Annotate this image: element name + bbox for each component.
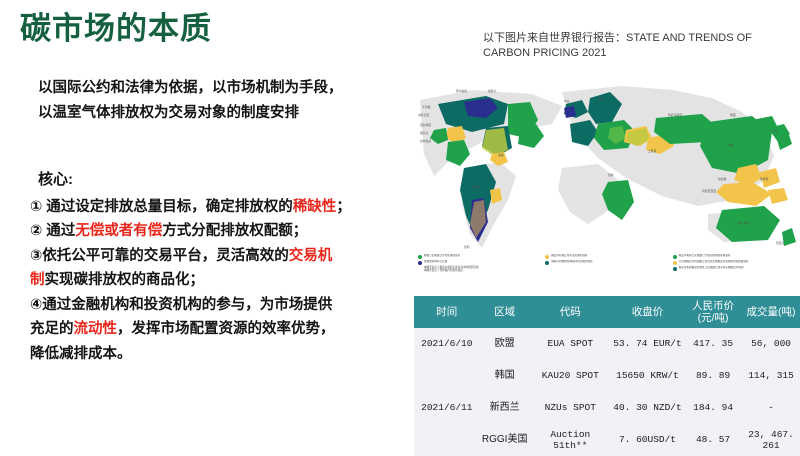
legend-item: 碳税与排放交易体系同时实施的辖区 [545,260,666,265]
legend-swatch-icon [673,261,677,265]
svg-text:印度尼西亚: 印度尼西亚 [702,189,716,193]
svg-text:加拿大: 加拿大 [488,89,497,93]
cell-close-price: 15650 KRW/t [611,360,684,392]
point-text: 实现碳排放权的商品化； [45,272,205,288]
highlighted-term: 交易机 [289,248,333,264]
svg-text:哥伦比亚: 哥伦比亚 [418,113,429,117]
intro-line-2: 以温室气体排放权为交易对象的制度安排 [38,101,408,126]
point-text: 方式分配排放权配额； [162,223,307,239]
svg-text:土耳其: 土耳其 [648,149,657,153]
cell-close-price: 40. 30 NZD/t [611,392,684,424]
table-row: 韩国KAU20 SPOT15650 KRW/t89. 89114, 315 [414,360,800,392]
legend-item: 碳定价机制覆盖的辖区已实施或正在考虑实施碳定价机制 [673,266,794,271]
svg-text:挪威: 挪威 [598,97,604,101]
svg-text:日本: 日本 [772,129,778,133]
legend-item: 排放交易体系已实施 [418,260,539,265]
legend-label: 碳税与排放交易体系同时实施的辖区 [551,260,593,263]
world-carbon-pricing-map: 阿尔伯塔 加拿大 不列颠 哥伦比亚 西北地区 纽芬兰 拉布拉多 美国 冰岛 挪威… [412,72,800,290]
cell-volume: - [742,392,800,424]
cell-region: 新西兰 [480,392,530,424]
svg-text:新加坡: 新加坡 [718,177,727,181]
cell-time: 2021/6/10 [414,328,480,360]
table-header: 时间 区域 代码 收盘价 人民币价(元/吨) 成交量(吨) [414,296,800,328]
point-text: ② 通过 [30,223,75,239]
svg-text:澳大利亚: 澳大利亚 [738,221,749,225]
legend-column-2: 碳定价机制正在考虑实施的辖区 碳税与排放交易体系同时实施的辖区 [545,254,666,290]
svg-text:哈萨克斯坦: 哈萨克斯坦 [668,113,682,117]
cell-volume: 23, 467. 261 [742,424,800,456]
cell-code: EUA SPOT [530,328,611,360]
highlighted-term: 无偿或者有偿 [75,223,162,239]
legend-footnote: 本图不表示了世界银行的任何观点 [424,269,539,272]
svg-text:不列颠: 不列颠 [422,105,431,109]
legend-swatch-icon [673,267,677,271]
legend-label: 碳定价机制覆盖的辖区已实施或正在考虑实施碳定价机制 [679,266,744,269]
legend-swatch-icon [545,255,549,259]
legend-label: 碳税已实施或已计划实施的辖区 [424,254,460,257]
legend-item: 碳定价机制正在考虑实施的辖区 [545,254,666,259]
legend-label: 已实施碳定价机制或正在考虑实施碳定价机制的次国家级辖区 [679,260,749,263]
svg-text:纽芬兰: 纽芬兰 [420,131,429,135]
intro-line-1: 以国际公约和法律为依据，以市场机制为手段， [38,76,408,101]
cell-region: 欧盟 [480,328,530,360]
legend-swatch-icon [673,255,677,259]
carbon-price-table: 时间 区域 代码 收盘价 人民币价(元/吨) 成交量(吨) 2021/6/10欧… [414,296,800,456]
table-body: 2021/6/10欧盟EUA SPOT53. 74 EUR/t417. 3556… [414,328,800,456]
cell-rmb-price: 89. 89 [684,360,742,392]
point-text: ① 通过设定排放总量目标，确定排放权的 [30,199,293,215]
svg-text:中国: 中国 [728,143,734,147]
core-heading: 核心: [38,168,73,189]
legend-label: 碳定价机制正在考虑实施的辖区 [551,254,587,257]
highlighted-term: 流动性 [74,321,118,337]
cell-rmb-price: 48. 57 [684,424,742,456]
highlighted-term: 稀缺性 [293,199,337,215]
cell-time [414,360,480,392]
point-3: ③依托公平可靠的交易平台，灵活高效的交易机 [30,245,425,268]
legend-column-3: 碳定价机制已实施或已计划实施的国家级辖区 已实施碳定价机制或正在考虑实施碳定价机… [673,254,794,290]
point-1: ① 通过设定排放总量目标，确定排放权的稀缺性； [30,196,425,219]
point-4: ④通过金融机构和投资机构的参与，为市场提供 [30,294,425,317]
point-text: ，发挥市场配置资源的效率优势， [117,321,335,337]
point-4b: 充足的流动性，发挥市场配置资源的效率优势， [30,318,425,341]
column-header-volume: 成交量(吨) [742,296,800,328]
point-text: ④通过金融机构和投资机构的参与，为市场提供 [30,297,332,313]
map-legend: 碳税已实施或已计划实施的辖区 排放交易体系已实施 本图不表示了碳定价机制正在考虑… [412,252,800,290]
table-header-row: 时间 区域 代码 收盘价 人民币价(元/吨) 成交量(吨) [414,296,800,328]
point-text: 降低减排成本。 [30,346,132,362]
svg-text:菲律宾: 菲律宾 [760,177,769,181]
cell-volume: 114, 315 [742,360,800,392]
point-text: 充足的 [30,321,74,337]
point-4c: 降低减排成本。 [30,343,425,366]
cell-close-price: 7. 60USD/t [611,424,684,456]
svg-text:冰岛: 冰岛 [564,99,570,103]
cell-volume: 56, 000 [742,328,800,360]
legend-swatch-icon [418,261,422,265]
core-points-list: ① 通过设定排放总量目标，确定排放权的稀缺性；② 通过无偿或者有偿方式分配排放权… [30,196,425,367]
table-row: 2021/6/11新西兰NZUs SPOT40. 30 NZD/t184. 94… [414,392,800,424]
point-text: ； [336,199,351,215]
intro-paragraph: 以国际公约和法律为依据，以市场机制为手段， 以温室气体排放权为交易对象的制度安排 [38,76,408,127]
legend-item: 已实施碳定价机制或正在考虑实施碳定价机制的次国家级辖区 [673,260,794,265]
svg-text:韩国: 韩国 [730,113,736,117]
svg-text:拉布拉多: 拉布拉多 [420,139,431,143]
svg-text:阿尔伯塔: 阿尔伯塔 [456,89,467,93]
cell-region: RGGI美国 [480,424,530,456]
cell-rmb-price: 417. 35 [684,328,742,360]
cell-code: Auction 51th** [530,424,611,456]
map-graphic: 阿尔伯塔 加拿大 不列颠 哥伦比亚 西北地区 纽芬兰 拉布拉多 美国 冰岛 挪威… [412,72,800,257]
svg-text:智利: 智利 [464,245,470,249]
column-header-region: 区域 [480,296,530,328]
cell-time: 2021/6/11 [414,392,480,424]
page-title: 碳市场的本质 [20,12,212,46]
cell-code: NZUs SPOT [530,392,611,424]
svg-text:西北地区: 西北地区 [420,123,431,127]
table-row: 2021/6/10欧盟EUA SPOT53. 74 EUR/t417. 3556… [414,328,800,360]
svg-text:南非: 南非 [608,173,614,177]
svg-text:新西兰: 新西兰 [776,241,785,245]
legend-swatch-icon [418,255,422,259]
legend-swatch-icon [545,261,549,265]
cell-rmb-price: 184. 94 [684,392,742,424]
point-text: ③依托公平可靠的交易平台，灵活高效的 [30,248,289,264]
svg-text:墨西哥: 墨西哥 [472,185,481,189]
legend-label: 排放交易体系已实施 [424,260,447,263]
legend-label: 碳定价机制已实施或已计划实施的国家级辖区 [679,254,731,257]
legend-column-1: 碳税已实施或已计划实施的辖区 排放交易体系已实施 本图不表示了碳定价机制正在考虑… [418,254,539,290]
column-header-code: 代码 [530,296,611,328]
cell-region: 韩国 [480,360,530,392]
cell-close-price: 53. 74 EUR/t [611,328,684,360]
svg-text:美国: 美国 [498,153,504,157]
legend-item: 碳定价机制已实施或已计划实施的国家级辖区 [673,254,794,259]
highlighted-term: 制 [30,272,45,288]
point-3b: 制实现碳排放权的商品化； [30,269,425,292]
legend-item: 碳税已实施或已计划实施的辖区 [418,254,539,259]
source-attribution: 以下图片来自世界银行报告：STATE AND TRENDS OF CARBON … [483,31,795,61]
column-header-close-price: 收盘价 [611,296,684,328]
column-header-time: 时间 [414,296,480,328]
cell-time [414,424,480,456]
cell-code: KAU20 SPOT [530,360,611,392]
point-2: ② 通过无偿或者有偿方式分配排放权配额； [30,220,425,243]
column-header-rmb-price: 人民币价(元/吨) [684,296,742,328]
table-row: RGGI美国Auction 51th**7. 60USD/t48. 5723, … [414,424,800,456]
